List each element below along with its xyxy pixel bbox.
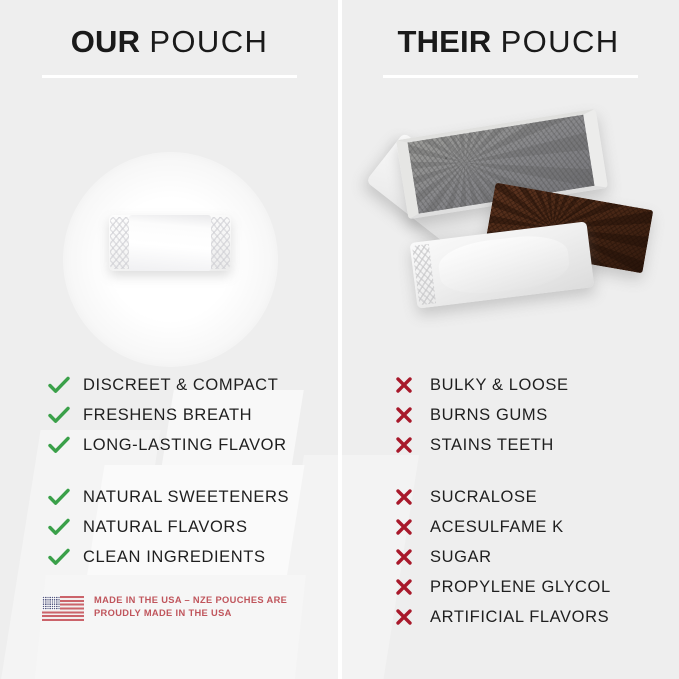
- list-item: ARTIFICIAL FLAVORS: [395, 602, 679, 632]
- benefit-group: NATURAL SWEETENERS NATURAL FLAVORS CLEAN…: [48, 482, 338, 572]
- their-pouch-hero: [339, 100, 678, 350]
- benefit-group: DISCREET & COMPACT FRESHENS BREATH LONG-…: [48, 370, 338, 460]
- white-nicotine-pouch-image: [109, 215, 231, 271]
- made-in-usa-text: MADE IN THE USA – NZE POUCHES ARE PROUDL…: [94, 594, 287, 621]
- list-item-label: PROPYLENE GLYCOL: [430, 579, 611, 596]
- heading-strong-word: THEIR: [397, 24, 491, 59]
- made-in-usa-badge: MADE IN THE USA – NZE POUCHES ARE PROUDL…: [42, 594, 312, 621]
- cross-icon: [395, 606, 421, 628]
- heading-light-word: POUCH: [501, 24, 620, 59]
- our-pouch-heading: OUR POUCH: [0, 26, 339, 57]
- pouch-bulge: [436, 231, 571, 298]
- list-item: NATURAL SWEETENERS: [48, 482, 338, 512]
- list-item-label: FRESHENS BREATH: [83, 407, 252, 424]
- heading-underline-left: [42, 75, 297, 78]
- their-pouch-column: THEIR POUCH: [339, 0, 678, 679]
- heading-light-word: POUCH: [149, 24, 268, 59]
- pouch-sheen: [129, 215, 211, 271]
- their-pouch-drawback-list: BULKY & LOOSE BURNS GUMS STAINS TEETH: [395, 370, 679, 632]
- our-pouch-hero: [0, 100, 339, 350]
- flag-canton: [42, 596, 60, 610]
- check-icon: [48, 516, 74, 538]
- list-item-label: ARTIFICIAL FLAVORS: [430, 609, 609, 626]
- drawback-group: BULKY & LOOSE BURNS GUMS STAINS TEETH: [395, 370, 679, 460]
- check-icon: [48, 546, 74, 568]
- list-item-label: CLEAN INGREDIENTS: [83, 549, 266, 566]
- usa-flag-icon: [42, 596, 84, 621]
- list-item-label: BURNS GUMS: [430, 407, 548, 424]
- cross-icon: [395, 374, 421, 396]
- competitor-bulky-pouches-image: [339, 100, 678, 350]
- list-item-label: STAINS TEETH: [430, 437, 554, 454]
- column-divider: [338, 0, 342, 679]
- our-pouch-benefit-list: DISCREET & COMPACT FRESHENS BREATH LONG-…: [48, 370, 338, 572]
- drawback-group: SUCRALOSE ACESULFAME K SUGAR: [395, 482, 679, 632]
- list-item: DISCREET & COMPACT: [48, 370, 338, 400]
- list-item: SUCRALOSE: [395, 482, 679, 512]
- cross-icon: [395, 516, 421, 538]
- cross-icon: [395, 546, 421, 568]
- heading-strong-word: OUR: [71, 24, 141, 59]
- cross-icon: [395, 486, 421, 508]
- list-item-label: DISCREET & COMPACT: [83, 377, 278, 394]
- list-item: BULKY & LOOSE: [395, 370, 679, 400]
- list-item-label: BULKY & LOOSE: [430, 377, 569, 394]
- list-item: LONG-LASTING FLAVOR: [48, 430, 338, 460]
- list-item: NATURAL FLAVORS: [48, 512, 338, 542]
- check-icon: [48, 434, 74, 456]
- made-in-usa-line-2: PROUDLY MADE IN THE USA: [94, 608, 232, 618]
- list-item: STAINS TEETH: [395, 430, 679, 460]
- list-item: FRESHENS BREATH: [48, 400, 338, 430]
- list-item: ACESULFAME K: [395, 512, 679, 542]
- list-item: BURNS GUMS: [395, 400, 679, 430]
- pouch-comparison-infographic: OUR POUCH DISCREET & COMPACT: [0, 0, 679, 679]
- list-item-label: ACESULFAME K: [430, 519, 564, 536]
- list-item-label: SUCRALOSE: [430, 489, 537, 506]
- check-icon: [48, 486, 74, 508]
- list-item: SUGAR: [395, 542, 679, 572]
- list-item-label: NATURAL SWEETENERS: [83, 489, 289, 506]
- check-icon: [48, 374, 74, 396]
- cross-icon: [395, 434, 421, 456]
- cross-icon: [395, 404, 421, 426]
- heading-underline-right: [383, 75, 638, 78]
- check-icon: [48, 404, 74, 426]
- their-pouch-heading: THEIR POUCH: [339, 26, 678, 57]
- our-pouch-column: OUR POUCH DISCREET & COMPACT: [0, 0, 339, 679]
- made-in-usa-line-1: MADE IN THE USA – NZE POUCHES ARE: [94, 595, 287, 605]
- cross-icon: [395, 576, 421, 598]
- list-item: PROPYLENE GLYCOL: [395, 572, 679, 602]
- list-item: CLEAN INGREDIENTS: [48, 542, 338, 572]
- list-item-label: SUGAR: [430, 549, 492, 566]
- list-item-label: NATURAL FLAVORS: [83, 519, 248, 536]
- list-item-label: LONG-LASTING FLAVOR: [83, 437, 287, 454]
